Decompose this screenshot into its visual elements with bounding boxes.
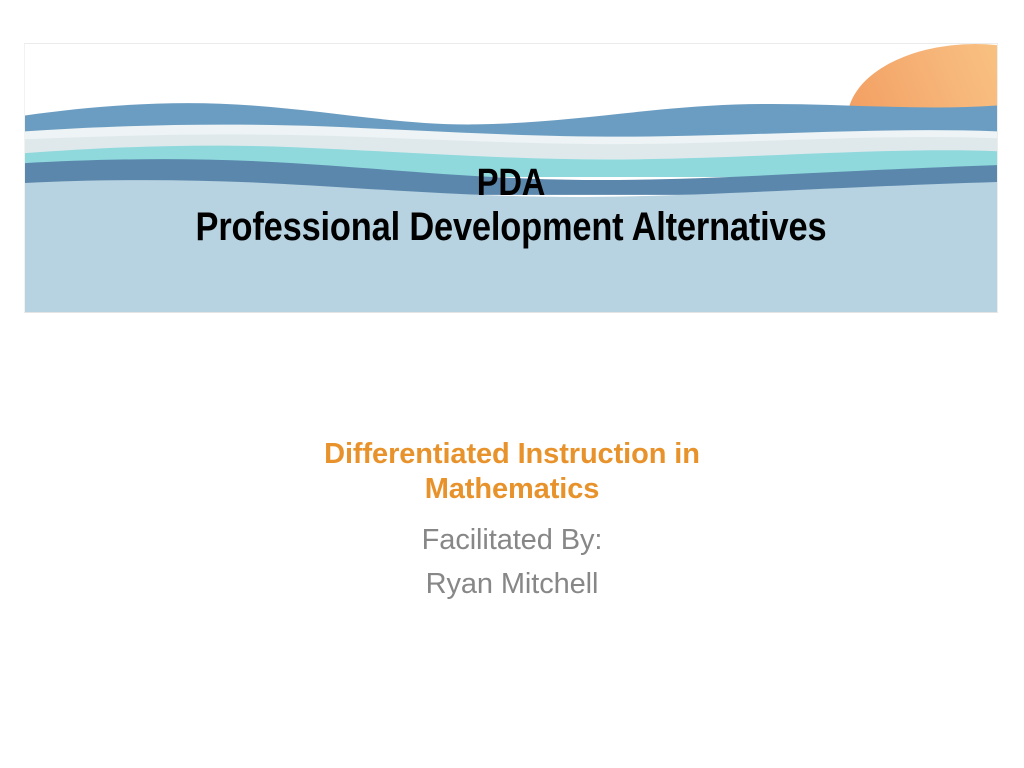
- subject-line-2: Mathematics: [232, 472, 792, 507]
- facilitator-name: Ryan Mitchell: [232, 562, 792, 606]
- slide-body-text: Differentiated Instruction in Mathematic…: [232, 437, 792, 606]
- slide-title-subheading: Professional Development Alternatives: [93, 205, 929, 250]
- facilitated-by-label: Facilitated By:: [232, 518, 792, 562]
- subject-line-1: Differentiated Instruction in: [232, 437, 792, 472]
- title-text-block: PDA Professional Development Alternative…: [25, 162, 997, 249]
- title-banner: PDA Professional Development Alternative…: [24, 43, 998, 313]
- presentation-slide: PDA Professional Development Alternative…: [0, 0, 1024, 768]
- slide-title-heading: PDA: [93, 162, 929, 205]
